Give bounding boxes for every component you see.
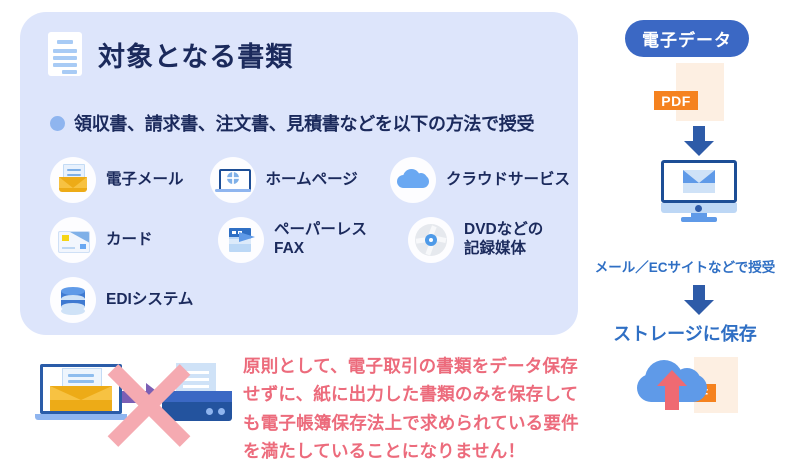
- method-label: クラウドサービス: [446, 171, 570, 190]
- method-item-cloud[interactable]: クラウドサービス: [390, 157, 570, 203]
- bullet-dot-icon: [50, 116, 65, 131]
- methods-grid: 電子メール ホームページ クラウドサービス: [50, 150, 570, 330]
- card-title-row: 対象となる書類: [48, 32, 293, 76]
- website-laptop-icon: [210, 157, 256, 203]
- method-label: ホームページ: [266, 171, 358, 190]
- electronic-data-pill: 電子データ: [625, 20, 749, 57]
- infographic-canvas: 対象となる書類 領収書、請求書、注文書、見積書などを以下の方法で授受 電子メール: [0, 0, 792, 474]
- method-label: ペーパーレスFAX: [274, 221, 367, 259]
- method-item-edi[interactable]: EDIシステム: [50, 277, 218, 323]
- method-item-website[interactable]: ホームページ: [210, 157, 390, 203]
- email-icon: [50, 157, 96, 203]
- target-documents-card: 対象となる書類 領収書、請求書、注文書、見積書などを以下の方法で授受 電子メール: [20, 12, 578, 335]
- paper-output-not-allowed-illustration: [36, 358, 232, 443]
- pdf-file-icon-top: PDF: [676, 63, 724, 121]
- cloud-icon: [390, 157, 436, 203]
- fax-icon: [218, 217, 264, 263]
- arrow-down-icon-1: [682, 126, 716, 156]
- page-title: 対象となる書類: [98, 35, 293, 74]
- monitor-mail-icon: [661, 160, 737, 222]
- receive-caption: メール／ECサイトなどで授受: [585, 256, 785, 276]
- methods-row: EDIシステム: [50, 270, 570, 330]
- pdf-label: PDF: [654, 91, 698, 110]
- dvd-disc-icon: [408, 217, 454, 263]
- method-item-fax[interactable]: ペーパーレスFAX: [218, 217, 408, 263]
- warning-text: 原則として、電子取引の書類をデータ保存せずに、紙に出力した書類のみを保存しても電…: [243, 352, 595, 465]
- method-item-email[interactable]: 電子メール: [50, 157, 210, 203]
- methods-row: 電子メール ホームページ クラウドサービス: [50, 150, 570, 210]
- cloud-upload-icon: [625, 352, 775, 416]
- credit-card-icon: [50, 217, 96, 263]
- method-item-dvd[interactable]: DVDなどの記録媒体: [408, 217, 543, 263]
- x-cross-mark-icon: [100, 356, 196, 448]
- method-label: EDIシステム: [106, 291, 193, 310]
- store-caption: ストレージに保存: [585, 320, 785, 346]
- method-label: 電子メール: [106, 171, 184, 190]
- method-label: カード: [106, 231, 153, 250]
- bullet-text: 領収書、請求書、注文書、見積書などを以下の方法で授受: [74, 110, 534, 136]
- bullet-row: 領収書、請求書、注文書、見積書などを以下の方法で授受: [50, 110, 534, 136]
- method-item-card[interactable]: カード: [50, 217, 218, 263]
- method-label: DVDなどの記録媒体: [464, 221, 543, 259]
- database-icon: [50, 277, 96, 323]
- document-icon: [48, 32, 82, 76]
- methods-row: カード ペーパーレスFAX: [50, 210, 570, 270]
- arrow-down-icon-2: [682, 285, 716, 313]
